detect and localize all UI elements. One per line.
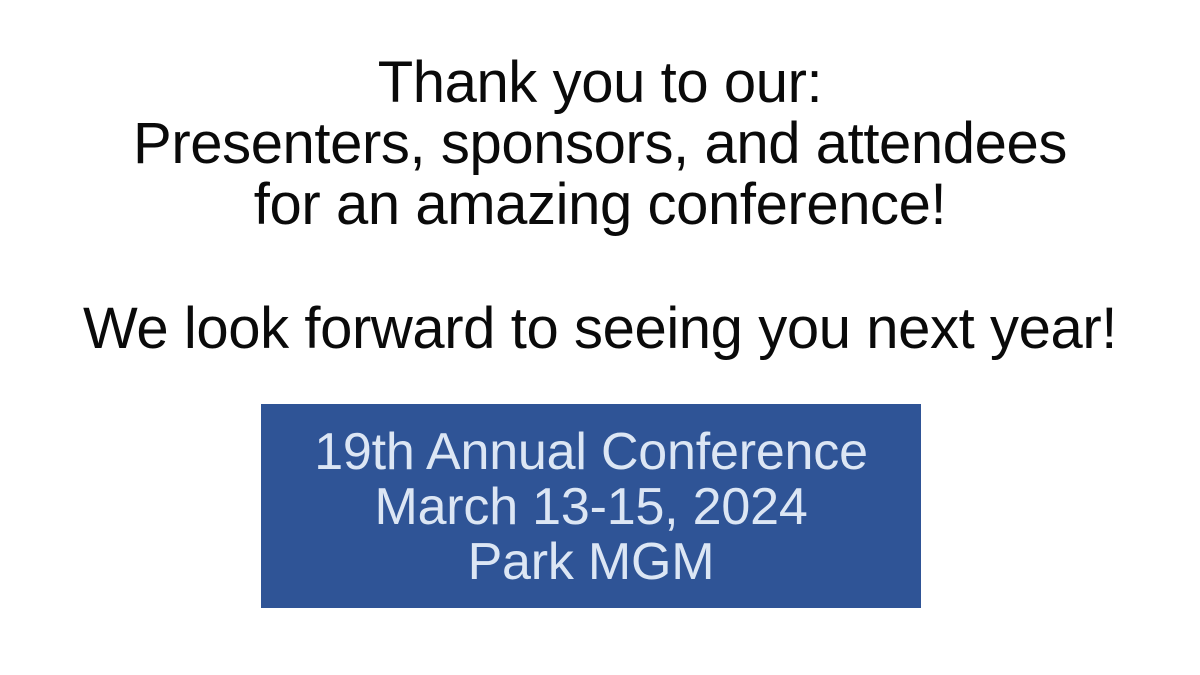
event-conference-name: 19th Annual Conference — [314, 425, 868, 480]
slide-canvas: Thank you to our: Presenters, sponsors, … — [0, 0, 1200, 675]
thank-you-line-1: Thank you to our: — [0, 52, 1200, 113]
thank-you-line-2: Presenters, sponsors, and attendees — [0, 113, 1200, 174]
event-venue: Park MGM — [468, 535, 715, 590]
event-details-box: 19th Annual Conference March 13-15, 2024… — [261, 404, 921, 608]
look-forward-line-1: We look forward to seeing you next year! — [0, 298, 1200, 359]
thank-you-line-3: for an amazing conference! — [0, 174, 1200, 235]
thank-you-text-block: Thank you to our: Presenters, sponsors, … — [0, 52, 1200, 235]
look-forward-text-block: We look forward to seeing you next year! — [0, 298, 1200, 359]
event-dates: March 13-15, 2024 — [374, 480, 807, 535]
